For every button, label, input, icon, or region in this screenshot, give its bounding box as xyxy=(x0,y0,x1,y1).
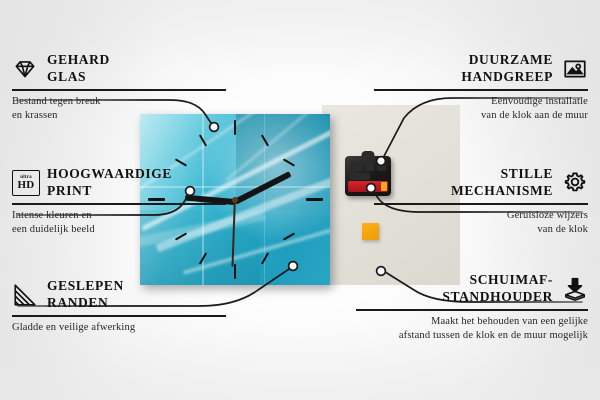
feature-divider xyxy=(374,89,588,91)
feature-divider xyxy=(12,89,226,91)
feature-heading: SCHUIMAF- STANDHOUDER xyxy=(356,272,588,305)
mechanism-hanger xyxy=(362,151,375,159)
feature-subtitle: Bestand tegen breuk en krassen xyxy=(12,95,226,123)
feature-heading: DUURZAME HANDGREEP xyxy=(374,52,588,85)
gear-icon xyxy=(562,170,588,196)
mechanism-detail xyxy=(350,173,370,180)
download-pad-icon xyxy=(562,276,588,302)
feature-heading: STILLE MECHANISME xyxy=(374,166,588,199)
feature-hoogwaardige-print: ultra HD HOOGWAARDIGE PRINT Intense kleu… xyxy=(12,166,226,237)
feature-subtitle: Gladde en veilige afwerking xyxy=(12,321,226,335)
feature-title: HOOGWAARDIGE PRINT xyxy=(47,166,172,199)
mechanism-detail xyxy=(365,162,374,171)
feature-duurzame-handgreep: DUURZAME HANDGREEP Eenvoudige installati… xyxy=(374,52,588,123)
feature-title: STILLE MECHANISME xyxy=(451,166,553,199)
infographic-canvas: GEHARD GLAS Bestand tegen breuk en krass… xyxy=(0,0,600,400)
clock-tick-5 xyxy=(261,252,269,264)
feature-divider xyxy=(12,315,226,317)
feature-heading: GEHARD GLAS xyxy=(12,52,226,85)
feature-stille-mechanisme: STILLE MECHANISME Geruisloze wijzers van… xyxy=(374,166,588,237)
feature-title: SCHUIMAF- STANDHOUDER xyxy=(442,272,553,305)
clock-tick-6 xyxy=(234,264,236,279)
feature-subtitle: Intense kleuren en een duidelijk beeld xyxy=(12,209,226,237)
feature-divider xyxy=(374,203,588,205)
clock-hands-hub xyxy=(232,197,238,203)
feature-geslepen-randen: GESLEPEN RANDEN Gladde en veilige afwerk… xyxy=(12,278,226,335)
feature-title: GESLEPEN RANDEN xyxy=(47,278,124,311)
diamond-icon xyxy=(12,56,38,82)
feature-title: DUURZAME HANDGREEP xyxy=(461,52,553,85)
feature-subtitle: Eenvoudige installatie van de klok aan d… xyxy=(374,95,588,123)
feature-subtitle: Maakt het behouden van een gelijke afsta… xyxy=(356,315,588,343)
picture-frame-icon xyxy=(562,56,588,82)
diagonal-lines-icon xyxy=(12,282,38,308)
feature-heading: GESLEPEN RANDEN xyxy=(12,278,226,311)
feature-schuimafstandhouder: SCHUIMAF- STANDHOUDER Maakt het behouden… xyxy=(356,272,588,343)
mechanism-detail xyxy=(350,162,362,171)
ultra-hd-icon: ultra HD xyxy=(12,170,38,196)
feature-gehard-glas: GEHARD GLAS Bestand tegen breuk en krass… xyxy=(12,52,226,123)
clock-tick-3 xyxy=(306,198,323,201)
feature-heading: ultra HD HOOGWAARDIGE PRINT xyxy=(12,166,226,199)
feature-divider xyxy=(12,203,226,205)
feature-subtitle: Geruisloze wijzers van de klok xyxy=(374,209,588,237)
feature-divider xyxy=(356,309,588,311)
clock-tick-12 xyxy=(234,120,236,135)
feature-title: GEHARD GLAS xyxy=(47,52,110,85)
